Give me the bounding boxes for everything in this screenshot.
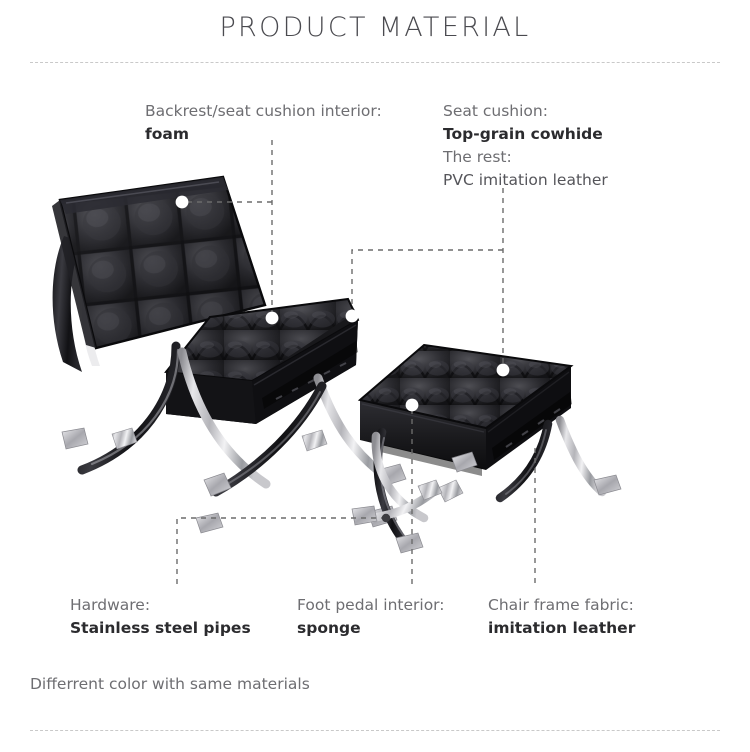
marker-dot-ottoman-top [497,364,510,377]
marker-dot-hardware [382,514,390,522]
marker-dot-ottoman-side [406,399,419,412]
leader-seat-branch-chair [352,250,503,314]
product-material-infographic: PRODUCT MATERIAL [0,0,750,752]
marker-dot-backrest [176,196,189,209]
callout-leader-lines [0,0,750,752]
marker-dot-chair-seat-edge [346,310,359,323]
marker-dot-seat-foam [266,312,279,325]
leader-hardware [177,518,386,588]
marker-dots [176,196,510,523]
